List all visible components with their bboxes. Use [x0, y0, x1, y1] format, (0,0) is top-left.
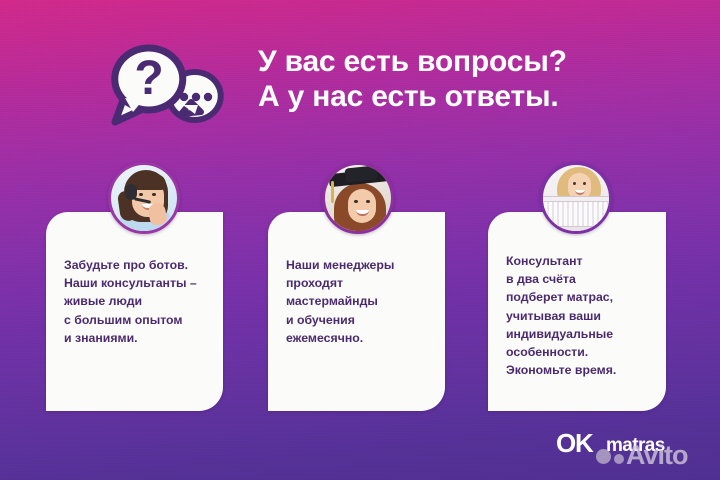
avito-watermark: Avito	[596, 440, 714, 474]
speech-bubbles-question-icon: ?	[103, 42, 238, 132]
avatar-support-agent-art	[111, 165, 177, 231]
headline-line-2: А у нас есть ответы.	[258, 79, 688, 114]
banner-header: ? У вас есть вопросы? А у нас есть ответ…	[0, 0, 720, 150]
headline-line-1: У вас есть вопросы?	[258, 44, 688, 79]
page-title: У вас есть вопросы? А у нас есть ответы.	[258, 44, 688, 114]
promo-banner: ? У вас есть вопросы? А у нас есть ответ…	[0, 0, 720, 480]
avatar-graduate-manager	[322, 162, 394, 234]
logo-text-ok: OK	[556, 428, 593, 459]
avito-dots-icon	[596, 449, 630, 467]
avatar-consultant-mattress-art	[543, 165, 609, 231]
feature-card-3-text: Консультант в два счёта подберет матрас,…	[506, 252, 656, 379]
avito-watermark-text: Avito	[626, 440, 688, 471]
feature-card-1: Забудьте про ботов. Наши консультанты – …	[46, 212, 223, 411]
feature-card-2: Наши менеджеры проходят мастермайнды и о…	[268, 212, 445, 411]
avatar-consultant-mattress	[540, 162, 612, 234]
feature-card-3: Консультант в два счёта подберет матрас,…	[488, 212, 666, 411]
avatar-support-agent	[108, 162, 180, 234]
feature-card-2-text: Наши менеджеры проходят мастермайнды и о…	[286, 256, 435, 347]
avatar-graduate-manager-art	[325, 165, 391, 231]
svg-text:?: ?	[134, 52, 163, 105]
feature-card-1-text: Забудьте про ботов. Наши консультанты – …	[64, 256, 213, 347]
